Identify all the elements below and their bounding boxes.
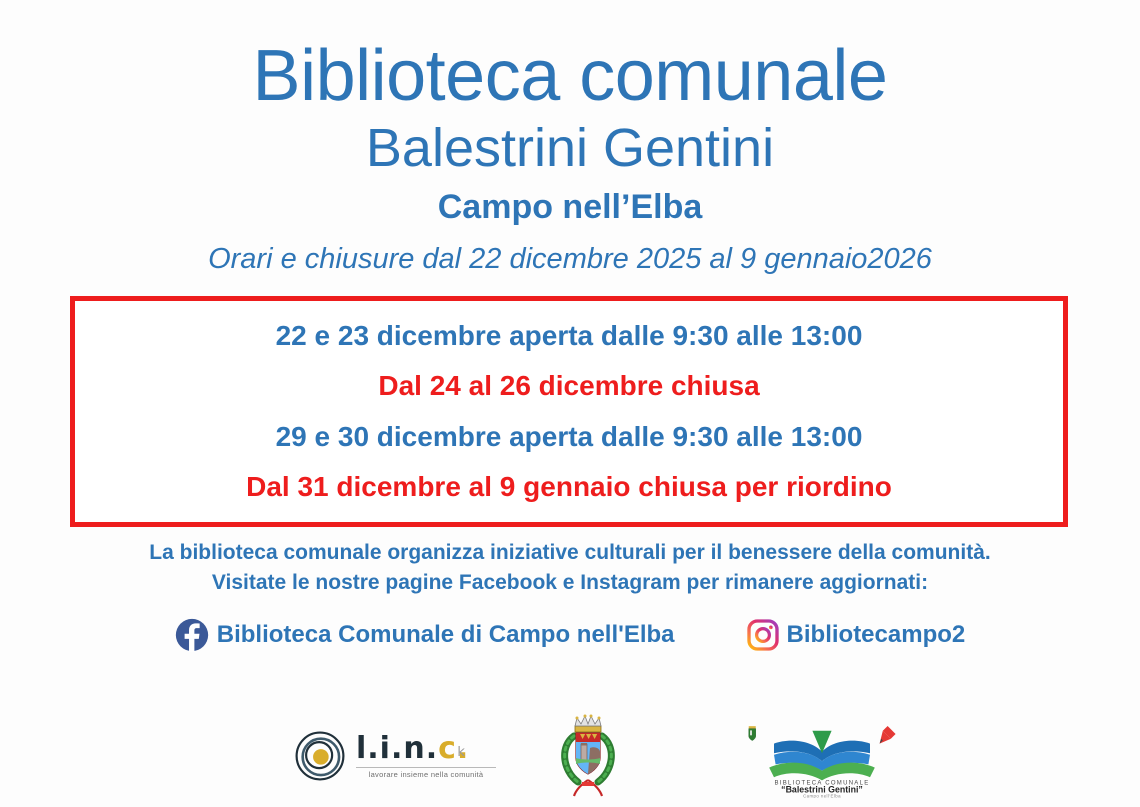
facebook-link[interactable]: Biblioteca Comunale di Campo nell'Elba bbox=[175, 618, 675, 652]
logos-row: l.i.n.c.k lavorare insieme nella comunit… bbox=[0, 706, 1140, 806]
facebook-icon[interactable] bbox=[175, 618, 209, 652]
instagram-label: Bibliotecampo2 bbox=[787, 621, 966, 649]
schedule-box: 22 e 23 dicembre aperta dalle 9:30 alle … bbox=[70, 296, 1068, 527]
footer-line-1: La biblioteca comunale organizza iniziat… bbox=[0, 538, 1140, 568]
biblioteca-logo: BIBLIOTECA COMUNALE “Balestrini Gentini”… bbox=[742, 718, 902, 798]
facebook-label: Biblioteca Comunale di Campo nell'Elba bbox=[217, 621, 675, 649]
page-title: Biblioteca comunale bbox=[0, 0, 1140, 112]
schedule-line-closed-1: Dal 24 al 26 dicembre chiusa bbox=[378, 370, 759, 402]
linc-tagline: lavorare insieme nella comunità bbox=[356, 767, 496, 779]
biblioteca-book-icon: BIBLIOTECA COMUNALE “Balestrini Gentini”… bbox=[742, 718, 902, 798]
instagram-link[interactable]: Bibliotecampo2 bbox=[747, 619, 966, 651]
linc-wordmark: l.i.n.c.k lavorare insieme nella comunit… bbox=[356, 734, 496, 779]
schedule-line-closed-2: Dal 31 dicembre al 9 gennaio chiusa per … bbox=[246, 471, 892, 503]
poster-root: Biblioteca comunale Balestrini Gentini C… bbox=[0, 0, 1140, 806]
linc-spiral-icon bbox=[294, 730, 346, 782]
page-period: Orari e chiusure dal 22 dicembre 2025 al… bbox=[0, 244, 1140, 276]
schedule-line-open-2: 29 e 30 dicembre aperta dalle 9:30 alle … bbox=[276, 421, 863, 453]
schedule-line-open-1: 22 e 23 dicembre aperta dalle 9:30 alle … bbox=[276, 320, 863, 352]
biblioteca-logo-line3: Campo nell'Elba bbox=[803, 794, 841, 798]
pencil-icon bbox=[880, 726, 896, 744]
linc-letter-k: k bbox=[457, 745, 466, 760]
comune-coat-of-arms bbox=[548, 712, 628, 802]
coat-of-arms-icon bbox=[548, 712, 628, 802]
page-location: Campo nell’Elba bbox=[0, 189, 1140, 226]
instagram-icon[interactable] bbox=[747, 619, 779, 651]
footer-paragraph: La biblioteca comunale organizza iniziat… bbox=[0, 538, 1140, 599]
linc-logo: l.i.n.c.k lavorare insieme nella comunit… bbox=[294, 724, 494, 788]
linc-letters-text: l.i.n. bbox=[356, 731, 438, 766]
linc-letters: l.i.n.c.k bbox=[356, 734, 478, 764]
social-links-row: Biblioteca Comunale di Campo nell'Elba B… bbox=[0, 618, 1140, 652]
page-subtitle: Balestrini Gentini bbox=[0, 120, 1140, 177]
footer-line-2: Visitate le nostre pagine Facebook e Ins… bbox=[0, 568, 1140, 598]
